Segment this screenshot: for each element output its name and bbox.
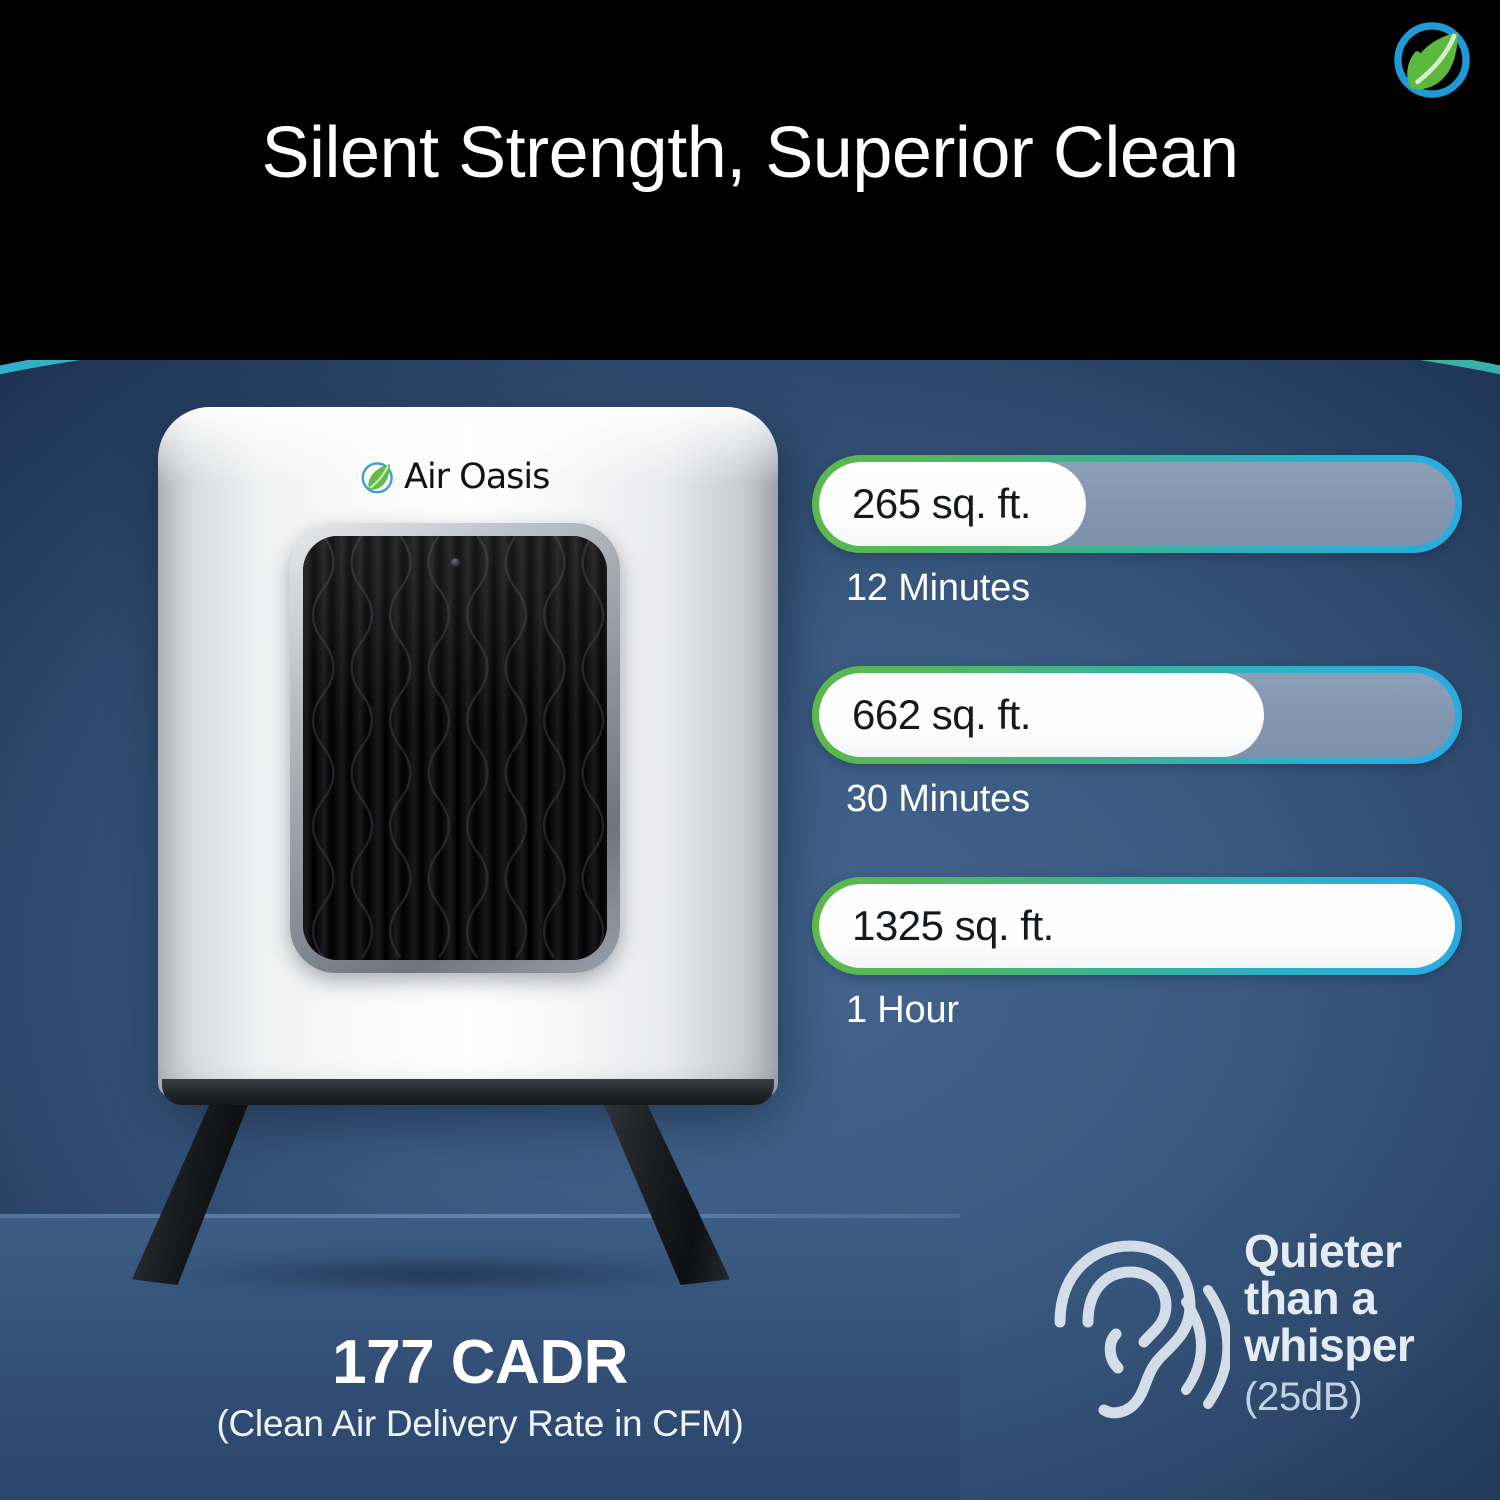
stat-row: 662 sq. ft. 30 Minutes <box>812 666 1462 821</box>
air-intake-grille-icon <box>303 536 607 960</box>
cadr-description: (Clean Air Delivery Rate in CFM) <box>0 1403 960 1445</box>
quiet-line-1: Quieter <box>1244 1228 1414 1275</box>
quiet-text-block: Quieter than a whisper (25dB) <box>1244 1222 1414 1420</box>
coverage-value: 662 sq. ft. <box>852 691 1031 739</box>
page-title: Silent Strength, Superior Clean <box>0 112 1500 194</box>
coverage-value: 1325 sq. ft. <box>852 902 1054 950</box>
coverage-caption: 1 Hour <box>846 989 1462 1032</box>
coverage-bar-track: 265 sq. ft. <box>812 455 1462 553</box>
product-brand-logo: Air Oasis <box>358 453 598 501</box>
infographic-canvas: Silent Strength, Superior Clean <box>0 0 1500 1500</box>
grille-frame <box>290 523 620 973</box>
quiet-block: Quieter than a whisper (25dB) <box>1030 1222 1490 1462</box>
stat-row: 265 sq. ft. 12 Minutes <box>812 455 1462 610</box>
quiet-decibels: (25dB) <box>1244 1375 1414 1420</box>
sensor-dot-icon <box>451 558 460 567</box>
cadr-block: 177 CADR (Clean Air Delivery Rate in CFM… <box>0 1330 960 1445</box>
quiet-line-2: than a <box>1244 1275 1414 1322</box>
leg-contact-shadow <box>160 1257 720 1291</box>
coverage-caption: 12 Minutes <box>846 567 1462 610</box>
coverage-bar-track: 662 sq. ft. <box>812 666 1462 764</box>
stat-row: 1325 sq. ft. 1 Hour <box>812 877 1462 1032</box>
leaf-in-circle-logo-icon <box>358 457 398 497</box>
leaf-in-circle-logo-icon <box>1386 14 1478 106</box>
coverage-caption: 30 Minutes <box>846 778 1462 821</box>
coverage-bar-track: 1325 sq. ft. <box>812 877 1462 975</box>
cadr-value: 177 CADR <box>0 1330 960 1395</box>
product-brand-name: Air Oasis <box>404 457 549 497</box>
coverage-stats-list: 265 sq. ft. 12 Minutes 662 sq. ft. 30 Mi… <box>812 455 1462 1088</box>
product-image: Air Oasis <box>120 395 820 1295</box>
ear-with-soundwaves-icon <box>1030 1230 1230 1445</box>
product-base-trim <box>162 1079 774 1105</box>
header-band: Silent Strength, Superior Clean <box>0 0 1500 360</box>
coverage-value: 265 sq. ft. <box>852 480 1031 528</box>
quiet-line-3: whisper <box>1244 1322 1414 1369</box>
